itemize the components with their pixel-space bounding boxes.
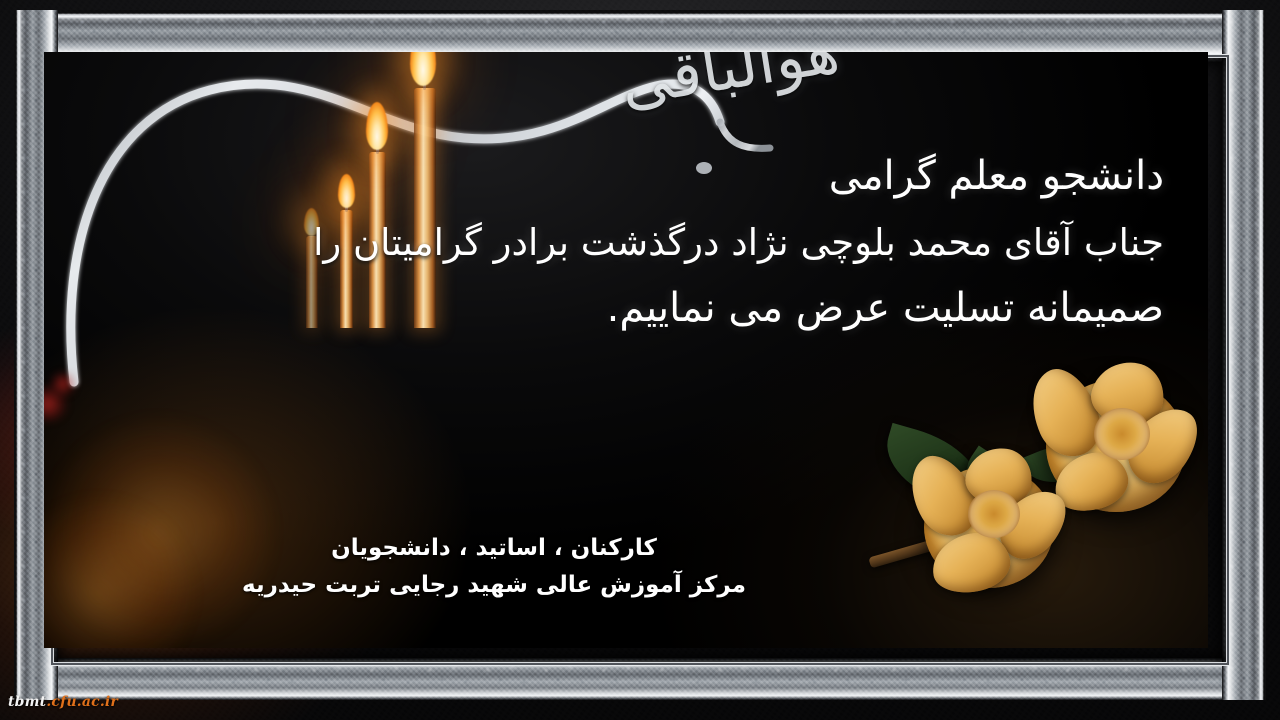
signature-line-1: کارکنان ، اساتید ، دانشجویان [194,530,794,567]
watermark-prefix: tbmt [8,694,46,710]
message-line-2: جناب آقای محمد بلوچی نژاد درگذشت برادر گ… [104,211,1164,275]
message-line-1: دانشجو معلم گرامی [104,142,1164,211]
memorial-banner: هوالباقی [0,0,1280,720]
site-watermark: tbmt.cfu.ac.ir [8,694,118,710]
rose-core [1094,408,1150,460]
condolence-message: دانشجو معلم گرامی جناب آقای محمد بلوچی ن… [104,142,1164,343]
signature-line-2: مرکز آموزش عالی شهید رجایی تربت حیدریه [194,567,794,604]
banner-canvas: هوالباقی [44,52,1208,648]
red-bokeh-light [50,372,76,396]
rose-core [968,490,1020,538]
roses-group [848,358,1208,648]
watermark-suffix: .cfu.ac.ir [46,694,118,710]
message-line-3: صمیمانه تسلیت عرض می نماییم. [104,274,1164,343]
frame-band-right [1222,10,1266,700]
frame-band-bottom [14,658,1266,700]
frame-floral-pattern [1222,10,1266,700]
candle-flame [410,52,436,86]
frame-floral-pattern [14,658,1266,700]
signature-block: کارکنان ، اساتید ، دانشجویان مرکز آموزش … [194,530,794,605]
